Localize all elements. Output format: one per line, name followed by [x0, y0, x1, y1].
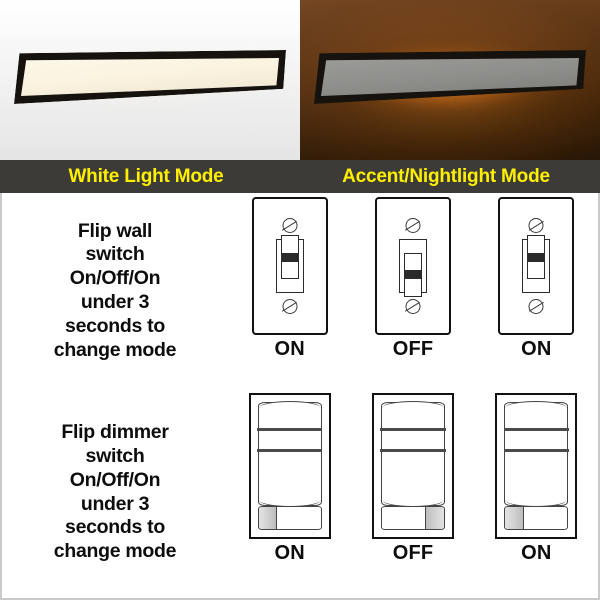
instr-line: Flip wall [54, 220, 176, 244]
screw-icon [282, 299, 297, 314]
slider-track[interactable] [277, 507, 320, 529]
screw-icon [529, 218, 544, 233]
paddle-top-curve [259, 401, 321, 408]
product-instruction-graphic: White Light Mode Accent/Nightlight Mode … [0, 0, 600, 600]
dimmer-switch-step-3: ON [475, 389, 598, 596]
instruction-text-dimmer-switch: Flip dimmer switch On/Off/On under 3 sec… [2, 389, 228, 596]
instr-line: Flip dimmer [54, 421, 176, 445]
instruction-row-dimmer-switch: Flip dimmer switch On/Off/On under 3 sec… [2, 389, 598, 596]
switch-state-label: OFF [393, 542, 434, 565]
toggle-switch-plate[interactable] [252, 197, 328, 335]
paddle-top-curve [382, 401, 444, 408]
paddle-top-curve [505, 401, 567, 408]
dimmer-slider-off[interactable] [381, 506, 445, 530]
photo-strip [0, 0, 600, 160]
switch-state-label: ON [521, 542, 551, 565]
toggle-lever-on[interactable] [281, 235, 299, 279]
instr-line: change mode [54, 540, 176, 564]
slider-knob[interactable] [425, 507, 444, 529]
instr-line: under 3 [54, 493, 176, 517]
toggle-switch-plate[interactable] [498, 197, 574, 335]
dimmer-rocker-paddle[interactable] [258, 402, 322, 506]
toggle-lever-on[interactable] [527, 235, 545, 279]
dimmer-slider-on[interactable] [258, 506, 322, 530]
switch-state-label: ON [521, 338, 551, 361]
dimmer-switch-plate[interactable] [249, 393, 331, 539]
switch-state-label: ON [274, 338, 304, 361]
slider-knob[interactable] [505, 507, 524, 529]
caption-accent-nightlight-mode: Accent/Nightlight Mode [292, 166, 600, 188]
dimmer-switch-plate[interactable] [495, 393, 577, 539]
switch-state-label: ON [274, 542, 304, 565]
photo-accent-nightlight-mode [300, 0, 600, 160]
instr-line: On/Off/On [54, 267, 176, 291]
instr-line: switch [54, 445, 176, 469]
dimmer-slider-on[interactable] [504, 506, 568, 530]
toggle-lever-off[interactable] [404, 253, 422, 297]
toggle-switch-body[interactable] [276, 239, 304, 293]
slider-track[interactable] [524, 507, 567, 529]
instr-line: seconds to [54, 516, 176, 540]
screw-icon [405, 218, 420, 233]
toggle-switch-step-3: ON [475, 193, 598, 389]
dimmer-rocker-paddle[interactable] [504, 402, 568, 506]
instr-line: under 3 [54, 291, 176, 315]
instruction-row-wall-switch: Flip wall switch On/Off/On under 3 secon… [2, 193, 598, 389]
dimmer-switch-step-1: ON [228, 389, 351, 596]
instruction-table: Flip wall switch On/Off/On under 3 secon… [0, 193, 600, 600]
screw-icon [405, 299, 420, 314]
caption-white-light-mode: White Light Mode [0, 166, 292, 188]
caption-bar: White Light Mode Accent/Nightlight Mode [0, 160, 600, 193]
toggle-switch-step-2: OFF [351, 193, 474, 389]
screw-icon [529, 299, 544, 314]
dimmer-rocker-paddle[interactable] [381, 402, 445, 506]
dimmer-switch-step-2: OFF [351, 389, 474, 596]
toggle-switch-body[interactable] [522, 239, 550, 293]
toggle-switch-step-1: ON [228, 193, 351, 389]
slider-knob[interactable] [259, 507, 278, 529]
dimmer-switch-plate[interactable] [372, 393, 454, 539]
instr-line: change mode [54, 339, 176, 363]
slider-track[interactable] [382, 507, 425, 529]
photo-white-light-mode [0, 0, 300, 160]
instr-line: seconds to [54, 315, 176, 339]
screw-icon [282, 218, 297, 233]
instr-line: switch [54, 243, 176, 267]
toggle-switch-plate[interactable] [375, 197, 451, 335]
switch-state-label: OFF [393, 338, 434, 361]
instr-line: On/Off/On [54, 469, 176, 493]
toggle-switch-body[interactable] [399, 239, 427, 293]
instruction-text-wall-switch: Flip wall switch On/Off/On under 3 secon… [2, 193, 228, 389]
